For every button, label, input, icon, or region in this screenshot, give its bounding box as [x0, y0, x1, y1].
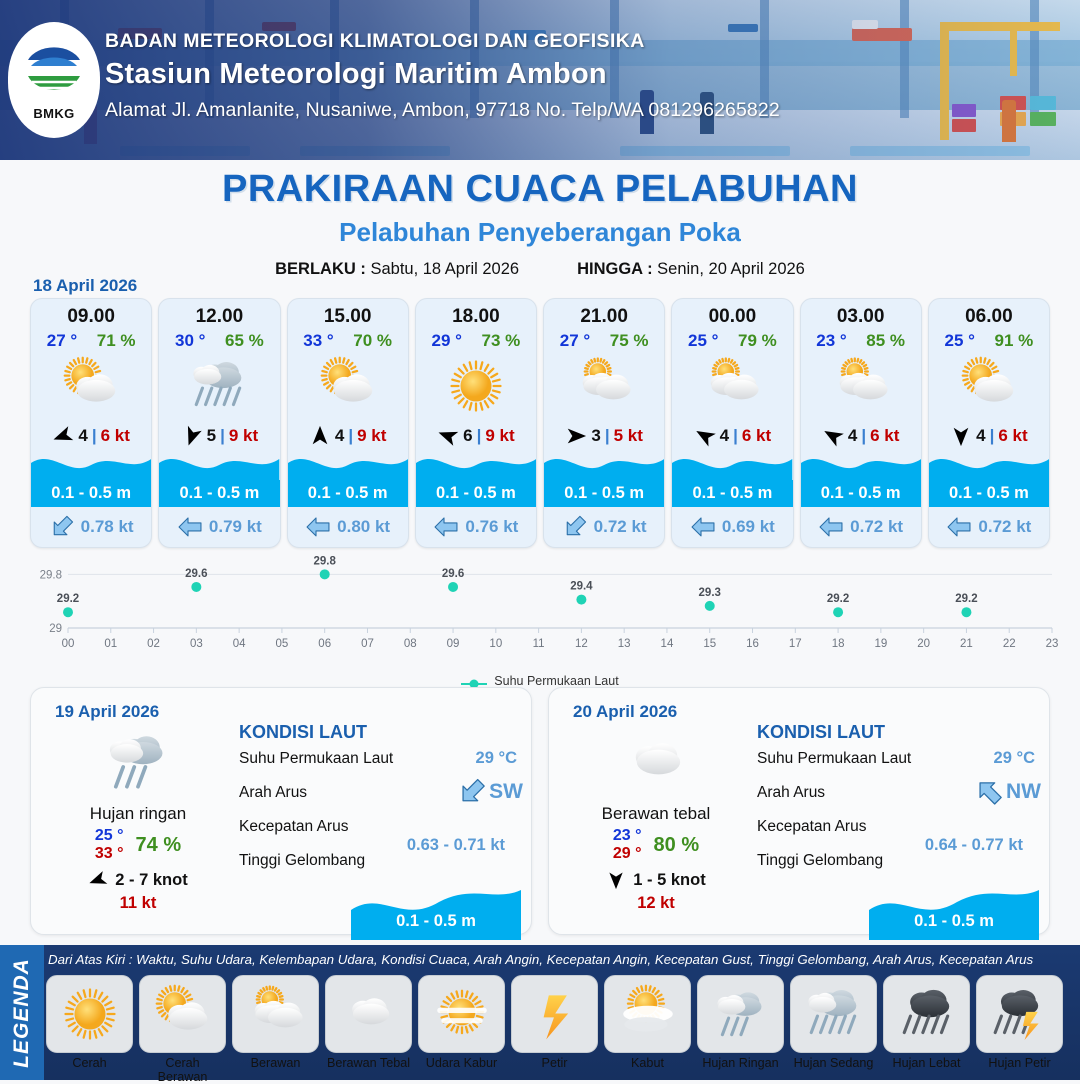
svg-text:21: 21 [960, 638, 973, 650]
legend-note: Dari Atas Kiri : Waktu, Suhu Udara, Kele… [48, 952, 1033, 967]
legend-band-text: LEGENDA [10, 958, 34, 1068]
sst-row: Suhu Permukaan Laut 29 °C [239, 748, 523, 782]
current-speed-label: Kecepatan Arus [757, 818, 866, 836]
wave-height-label: Tinggi Gelombang [239, 852, 365, 870]
current-speed: 0.78 kt [81, 517, 134, 537]
wind-direction-arrow-icon [565, 425, 587, 447]
gust-speed: 9 kt [229, 426, 258, 446]
daily-forecast-card: 19 April 2026 Hujan ringan 25 ° 33 ° 74 … [30, 687, 532, 935]
svg-text:10: 10 [489, 638, 502, 650]
legend-item: Cerah [46, 975, 133, 1084]
weather-berawan-icon [801, 353, 921, 419]
legend-udara-kabur-icon [418, 975, 505, 1053]
current-direction-row: Arah Arus SW [239, 782, 523, 816]
weather-berawan-icon [544, 353, 664, 419]
wind-separator: | [220, 426, 225, 446]
wave-band: 0.1 - 0.5 m [159, 480, 279, 507]
gust-speed: 9 kt [485, 426, 514, 446]
wave-band: 0.1 - 0.5 m [31, 480, 151, 507]
legend-item: Hujan Sedang [790, 975, 877, 1084]
svg-text:29.4: 29.4 [570, 581, 593, 593]
chart-legend-marker-icon [461, 676, 487, 686]
current-direction-arrow-icon [177, 515, 203, 539]
svg-text:19: 19 [874, 638, 887, 650]
wave-graphic: 0.1 - 0.5 m [869, 884, 1039, 940]
svg-text:29.8: 29.8 [314, 556, 337, 567]
daily-date: 20 April 2026 [573, 702, 677, 722]
legend-item-label: Kabut [604, 1056, 691, 1070]
wind-separator: | [990, 426, 995, 446]
wave-height: 0.1 - 0.5 m [308, 484, 388, 503]
svg-text:05: 05 [276, 638, 289, 650]
current-speed: 0.76 kt [465, 517, 518, 537]
legend-item: Berawan Tebal [325, 975, 412, 1084]
valid-from-value: Sabtu, 18 April 2026 [370, 260, 519, 278]
wind-separator: | [348, 426, 353, 446]
wind-speed: 5 [207, 426, 216, 446]
card-humidity: 71 % [97, 331, 136, 351]
card-current: 0.80 kt [288, 511, 408, 543]
current-speed-row: Kecepatan Arus 0.63 - 0.71 kt [239, 816, 523, 850]
card-wind: 3 | 5 kt [544, 423, 664, 449]
wave-band: 0.1 - 0.5 m [288, 480, 408, 507]
legend-kabut-icon [604, 975, 691, 1053]
svg-text:29.3: 29.3 [699, 587, 721, 599]
current-speed: 0.72 kt [978, 517, 1031, 537]
current-direction-value: SW [489, 780, 523, 804]
wave-graphic: 0.1 - 0.5 m [288, 447, 408, 507]
daily-temp-max: 33 ° [95, 845, 124, 863]
legend-section: LEGENDA Dari Atas Kiri : Waktu, Suhu Uda… [0, 945, 1080, 1080]
card-current: 0.69 kt [672, 511, 792, 543]
current-direction-value: NW [1006, 780, 1041, 804]
current-direction-arrow-icon [818, 515, 844, 539]
svg-text:09: 09 [447, 638, 460, 650]
svg-text:29.2: 29.2 [57, 593, 79, 605]
legend-item: Hujan Petir [976, 975, 1063, 1084]
card-temp-hum: 27 ° 71 % [31, 331, 151, 351]
legend-petir-icon [511, 975, 598, 1053]
daily-temps: 23 ° 29 ° 80 % [563, 827, 749, 863]
legend-item-label: Petir [511, 1056, 598, 1070]
wave-graphic: 0.1 - 0.5 m [31, 447, 151, 507]
wave-graphic: 0.1 - 0.5 m [801, 447, 921, 507]
legend-items: Cerah Cerah Berawan Berawan Berawan Teba… [46, 975, 1078, 1084]
svg-text:12: 12 [575, 638, 588, 650]
valid-from-label: BERLAKU : [275, 260, 366, 278]
hourly-card: 15.00 33 ° 70 % 4 | 9 kt 0.1 - 0.5 m [287, 298, 409, 548]
card-time: 15.00 [288, 306, 408, 328]
daily-forecast-card: 20 April 2026 Berawan tebal 23 ° 29 ° 80… [548, 687, 1050, 935]
legend-item-label: Hujan Lebat [883, 1056, 970, 1070]
svg-text:16: 16 [746, 638, 759, 650]
card-temp-hum: 23 ° 85 % [801, 331, 921, 351]
wind-direction-arrow-icon [822, 425, 844, 447]
svg-text:29.8: 29.8 [40, 569, 62, 581]
card-wind: 4 | 6 kt [801, 423, 921, 449]
svg-text:29: 29 [49, 623, 62, 635]
gust-speed: 9 kt [357, 426, 386, 446]
wave-graphic: 0.1 - 0.5 m [159, 447, 279, 507]
daily-humidity: 74 % [136, 834, 182, 857]
sea-conditions-title: KONDISI LAUT [239, 722, 523, 743]
svg-text:13: 13 [618, 638, 631, 650]
card-current: 0.72 kt [929, 511, 1049, 543]
current-direction-arrow-icon [974, 778, 1004, 806]
daily-temp-min: 23 ° [613, 827, 642, 845]
wind-separator: | [92, 426, 97, 446]
card-temperature: 27 ° [47, 331, 77, 351]
card-humidity: 85 % [866, 331, 905, 351]
card-temperature: 25 ° [688, 331, 718, 351]
wave-graphic: 0.1 - 0.5 m [544, 447, 664, 507]
station-address: Alamat Jl. Amanlanite, Nusaniwe, Ambon, … [105, 99, 780, 122]
svg-text:11: 11 [533, 638, 545, 650]
wind-separator: | [733, 426, 738, 446]
sst-chart: 29.8290001020304050607080910111213141516… [20, 556, 1060, 671]
legend-cerah-icon [46, 975, 133, 1053]
weather-cerah-berawan-icon [929, 353, 1049, 419]
wave-band: 0.1 - 0.5 m [416, 480, 536, 507]
svg-text:29.6: 29.6 [185, 568, 207, 580]
svg-text:29.6: 29.6 [442, 568, 464, 580]
current-speed-label: Kecepatan Arus [239, 818, 348, 836]
card-humidity: 75 % [610, 331, 649, 351]
agency-name: BADAN METEOROLOGI KLIMATOLOGI DAN GEOFIS… [105, 30, 780, 53]
legend-item-label: Hujan Petir [976, 1056, 1063, 1070]
card-wind: 4 | 6 kt [31, 423, 151, 449]
current-speed: 0.69 kt [722, 517, 775, 537]
current-direction-value-group: NW [974, 778, 1041, 806]
svg-text:23: 23 [1046, 638, 1059, 650]
current-direction-arrow-icon [457, 778, 487, 806]
wind-direction-arrow-icon [181, 425, 203, 447]
card-wind: 5 | 9 kt [159, 423, 279, 449]
weather-cerah-berawan-icon [288, 353, 408, 419]
legend-hujan-sedang-icon [790, 975, 877, 1053]
card-temperature: 23 ° [816, 331, 846, 351]
wave-graphic: 0.1 - 0.5 m [351, 884, 521, 940]
hourly-forecast-row: 09.00 27 ° 71 % 4 | 6 kt 0.1 - 0.5 m [30, 298, 1050, 548]
wind-speed: 4 [848, 426, 857, 446]
legend-item: Cerah Berawan [139, 975, 226, 1084]
card-temp-hum: 25 ° 91 % [929, 331, 1049, 351]
wave-height-value: 0.1 - 0.5 m [869, 912, 1039, 931]
current-speed: 0.72 kt [594, 517, 647, 537]
card-wind: 4 | 6 kt [672, 423, 792, 449]
wind-direction-arrow-icon [88, 870, 108, 890]
legend-hujan-lebat-icon [883, 975, 970, 1053]
svg-text:00: 00 [62, 638, 75, 650]
current-speed-row: Kecepatan Arus 0.64 - 0.77 kt [757, 816, 1041, 850]
card-current: 0.78 kt [31, 511, 151, 543]
wave-height: 0.1 - 0.5 m [564, 484, 644, 503]
wave-height: 0.1 - 0.5 m [949, 484, 1029, 503]
current-direction-arrow-icon [433, 515, 459, 539]
card-current: 0.79 kt [159, 511, 279, 543]
current-direction-value-group: SW [457, 778, 523, 806]
svg-text:04: 04 [233, 638, 246, 650]
sst-value: 29 °C [476, 749, 517, 768]
wave-height-value: 0.1 - 0.5 m [351, 912, 521, 931]
valid-to: HINGGA : Senin, 20 April 2026 [577, 260, 805, 279]
sst-chart-panel: 29.8290001020304050607080910111213141516… [20, 556, 1060, 681]
legend-item-label: Hujan Ringan [697, 1056, 784, 1070]
svg-text:03: 03 [190, 638, 203, 650]
current-direction-arrow-icon [562, 515, 588, 539]
daily-wind-range: 1 - 5 knot [633, 871, 705, 890]
card-humidity: 79 % [738, 331, 777, 351]
valid-to-label: HINGGA : [577, 260, 652, 278]
weather-berawan-tebal-icon [563, 726, 749, 798]
wind-speed: 4 [720, 426, 729, 446]
legend-hujan-petir-icon [976, 975, 1063, 1053]
hourly-card: 09.00 27 ° 71 % 4 | 6 kt 0.1 - 0.5 m [30, 298, 152, 548]
wind-direction-arrow-icon [950, 425, 972, 447]
gust-speed: 5 kt [614, 426, 643, 446]
wave-height-row: Tinggi Gelombang 0.1 - 0.5 m [757, 850, 1041, 884]
card-humidity: 73 % [481, 331, 520, 351]
daily-wind-range: 2 - 7 knot [115, 871, 187, 890]
card-temp-hum: 29 ° 73 % [416, 331, 536, 351]
svg-text:15: 15 [703, 638, 716, 650]
legend-item-label: Berawan [232, 1056, 319, 1070]
header-text-block: BADAN METEOROLOGI KLIMATOLOGI DAN GEOFIS… [105, 30, 780, 122]
title-block: PRAKIRAAN CUACA PELABUHAN Pelabuhan Peny… [0, 168, 1080, 279]
wind-direction-arrow-icon [694, 425, 716, 447]
wind-direction-arrow-icon [437, 425, 459, 447]
current-direction-row: Arah Arus NW [757, 782, 1041, 816]
hourly-card: 06.00 25 ° 91 % 4 | 6 kt 0.1 - 0.5 m [928, 298, 1050, 548]
daily-temp-max: 29 ° [613, 845, 642, 863]
svg-text:06: 06 [318, 638, 331, 650]
card-current: 0.72 kt [544, 511, 664, 543]
daily-condition: Berawan tebal [563, 804, 749, 824]
wind-direction-arrow-icon [309, 425, 331, 447]
daily-gust: 12 kt [563, 894, 749, 913]
daily-wind: 1 - 5 knot [563, 870, 749, 890]
gust-speed: 6 kt [101, 426, 130, 446]
card-temp-hum: 27 ° 75 % [544, 331, 664, 351]
wind-speed: 6 [463, 426, 472, 446]
wave-graphic: 0.1 - 0.5 m [416, 447, 536, 507]
card-temperature: 27 ° [560, 331, 590, 351]
sea-conditions-block: KONDISI LAUT Suhu Permukaan Laut 29 °C A… [757, 722, 1041, 884]
wave-band: 0.1 - 0.5 m [672, 480, 792, 507]
sst-label: Suhu Permukaan Laut [757, 750, 911, 768]
legend-berawan-tebal-icon [325, 975, 412, 1053]
card-humidity: 70 % [353, 331, 392, 351]
current-direction-label: Arah Arus [757, 784, 825, 802]
sea-conditions-block: KONDISI LAUT Suhu Permukaan Laut 29 °C A… [239, 722, 523, 884]
card-time: 18.00 [416, 306, 536, 328]
wind-separator: | [477, 426, 482, 446]
sst-row: Suhu Permukaan Laut 29 °C [757, 748, 1041, 782]
current-speed: 0.80 kt [337, 517, 390, 537]
legend-item: Berawan [232, 975, 319, 1084]
daily-left-block: Berawan tebal 23 ° 29 ° 80 % 1 - 5 knot … [563, 726, 749, 913]
daily-condition: Hujan ringan [45, 804, 231, 824]
card-temp-hum: 33 ° 70 % [288, 331, 408, 351]
validity-period: BERLAKU : Sabtu, 18 April 2026 HINGGA : … [0, 260, 1080, 279]
page-header: BMKG BADAN METEOROLOGI KLIMATOLOGI DAN G… [0, 0, 1080, 160]
page-title: PRAKIRAAN CUACA PELABUHAN [0, 168, 1080, 211]
daily-humidity: 80 % [654, 834, 700, 857]
wave-height: 0.1 - 0.5 m [51, 484, 131, 503]
card-time: 21.00 [544, 306, 664, 328]
station-name: Stasiun Meteorologi Maritim Ambon [105, 58, 780, 91]
legend-item: Kabut [604, 975, 691, 1084]
wind-speed: 4 [78, 426, 87, 446]
legend-item: Petir [511, 975, 598, 1084]
svg-text:01: 01 [104, 638, 117, 650]
sst-label: Suhu Permukaan Laut [239, 750, 393, 768]
wave-graphic: 0.1 - 0.5 m [672, 447, 792, 507]
legend-item-label: Hujan Sedang [790, 1056, 877, 1070]
svg-text:29.2: 29.2 [955, 593, 977, 605]
card-temperature: 29 ° [432, 331, 462, 351]
svg-text:17: 17 [789, 638, 802, 650]
card-temperature: 30 ° [175, 331, 205, 351]
hourly-card: 00.00 25 ° 79 % 4 | 6 kt 0.1 - 0.5 m [671, 298, 793, 548]
svg-text:22: 22 [1003, 638, 1016, 650]
hourly-card: 12.00 30 ° 65 % 5 | 9 kt 0.1 - 0.5 m [158, 298, 280, 548]
wave-height: 0.1 - 0.5 m [179, 484, 259, 503]
card-wind: 6 | 9 kt [416, 423, 536, 449]
wave-band: 0.1 - 0.5 m [801, 480, 921, 507]
current-direction-arrow-icon [946, 515, 972, 539]
sea-conditions-title: KONDISI LAUT [757, 722, 1041, 743]
svg-text:18: 18 [832, 638, 845, 650]
card-temperature: 33 ° [303, 331, 333, 351]
wind-speed: 3 [591, 426, 600, 446]
legend-hujan-ringan-icon [697, 975, 784, 1053]
bmkg-logo-text: BMKG [33, 106, 74, 121]
hourly-card: 21.00 27 ° 75 % 3 | 5 kt 0.1 - 0.5 m [543, 298, 665, 548]
wave-height-label: Tinggi Gelombang [757, 852, 883, 870]
valid-to-value: Senin, 20 April 2026 [657, 260, 805, 278]
wind-separator: | [605, 426, 610, 446]
wind-separator: | [861, 426, 866, 446]
weather-cerah-icon [416, 353, 536, 419]
svg-text:29.2: 29.2 [827, 593, 849, 605]
wave-height: 0.1 - 0.5 m [692, 484, 772, 503]
legend-berawan-icon [232, 975, 319, 1053]
svg-text:07: 07 [361, 638, 374, 650]
current-direction-arrow-icon [690, 515, 716, 539]
wind-speed: 4 [976, 426, 985, 446]
current-speed: 0.79 kt [209, 517, 262, 537]
card-humidity: 91 % [994, 331, 1033, 351]
wave-height: 0.1 - 0.5 m [821, 484, 901, 503]
svg-text:20: 20 [917, 638, 930, 650]
card-time: 09.00 [31, 306, 151, 328]
weather-hujan-ringan-icon [45, 726, 231, 798]
daily-temps: 25 ° 33 ° 74 % [45, 827, 231, 863]
daily-temp-min: 25 ° [95, 827, 124, 845]
daily-left-block: Hujan ringan 25 ° 33 ° 74 % 2 - 7 knot 1… [45, 726, 231, 913]
card-humidity: 65 % [225, 331, 264, 351]
chart-legend-label: Suhu Permukaan Laut [494, 674, 618, 688]
current-direction-label: Arah Arus [239, 784, 307, 802]
bmkg-logo-mark [22, 40, 86, 104]
wind-direction-arrow-icon [52, 425, 74, 447]
wave-graphic: 0.1 - 0.5 m [929, 447, 1049, 507]
legend-item-label: Cerah [46, 1056, 133, 1070]
daily-temp-range: 23 ° 29 ° [613, 827, 642, 863]
card-wind: 4 | 6 kt [929, 423, 1049, 449]
current-speed: 0.72 kt [850, 517, 903, 537]
card-temp-hum: 30 ° 65 % [159, 331, 279, 351]
gust-speed: 6 kt [742, 426, 771, 446]
gust-speed: 6 kt [870, 426, 899, 446]
legend-item-label: Udara Kabur [418, 1056, 505, 1070]
card-temp-hum: 25 ° 79 % [672, 331, 792, 351]
daily-gust: 11 kt [45, 894, 231, 913]
daily-date: 19 April 2026 [55, 702, 159, 722]
hourly-card: 03.00 23 ° 85 % 4 | 6 kt 0.1 - 0.5 m [800, 298, 922, 548]
daily-temp-range: 25 ° 33 ° [95, 827, 124, 863]
svg-text:14: 14 [661, 638, 674, 650]
wave-height: 0.1 - 0.5 m [436, 484, 516, 503]
current-direction-arrow-icon [305, 515, 331, 539]
wind-speed: 4 [335, 426, 344, 446]
valid-from: BERLAKU : Sabtu, 18 April 2026 [275, 260, 519, 279]
svg-text:02: 02 [147, 638, 160, 650]
daily-wind: 2 - 7 knot [45, 870, 231, 890]
wave-height-row: Tinggi Gelombang 0.1 - 0.5 m [239, 850, 523, 884]
legend-item: Udara Kabur [418, 975, 505, 1084]
weather-cerah-berawan-icon [31, 353, 151, 419]
card-current: 0.76 kt [416, 511, 536, 543]
legend-band: LEGENDA [0, 945, 44, 1080]
port-name: Pelabuhan Penyeberangan Poka [0, 217, 1080, 248]
wave-band: 0.1 - 0.5 m [929, 480, 1049, 507]
wave-band: 0.1 - 0.5 m [544, 480, 664, 507]
bmkg-logo: BMKG [8, 22, 100, 138]
legend-item: Hujan Lebat [883, 975, 970, 1084]
wind-direction-arrow-icon [606, 870, 626, 890]
weather-berawan-icon [672, 353, 792, 419]
card-time: 00.00 [672, 306, 792, 328]
card-time: 03.00 [801, 306, 921, 328]
chart-legend: Suhu Permukaan Laut [20, 674, 1060, 688]
hourly-date-label: 18 April 2026 [33, 276, 137, 296]
daily-forecast-row: 19 April 2026 Hujan ringan 25 ° 33 ° 74 … [30, 687, 1050, 935]
hourly-card: 18.00 29 ° 73 % 6 | 9 kt 0.1 - 0.5 m [415, 298, 537, 548]
legend-cerah-berawan-icon [139, 975, 226, 1053]
gust-speed: 6 kt [998, 426, 1027, 446]
weather-hujan-sedang-icon [159, 353, 279, 419]
card-time: 12.00 [159, 306, 279, 328]
card-current: 0.72 kt [801, 511, 921, 543]
current-direction-arrow-icon [49, 515, 75, 539]
card-time: 06.00 [929, 306, 1049, 328]
legend-item-label: Berawan Tebal [325, 1056, 412, 1070]
legend-item: Hujan Ringan [697, 975, 784, 1084]
sst-value: 29 °C [994, 749, 1035, 768]
card-temperature: 25 ° [945, 331, 975, 351]
svg-text:08: 08 [404, 638, 417, 650]
card-wind: 4 | 9 kt [288, 423, 408, 449]
